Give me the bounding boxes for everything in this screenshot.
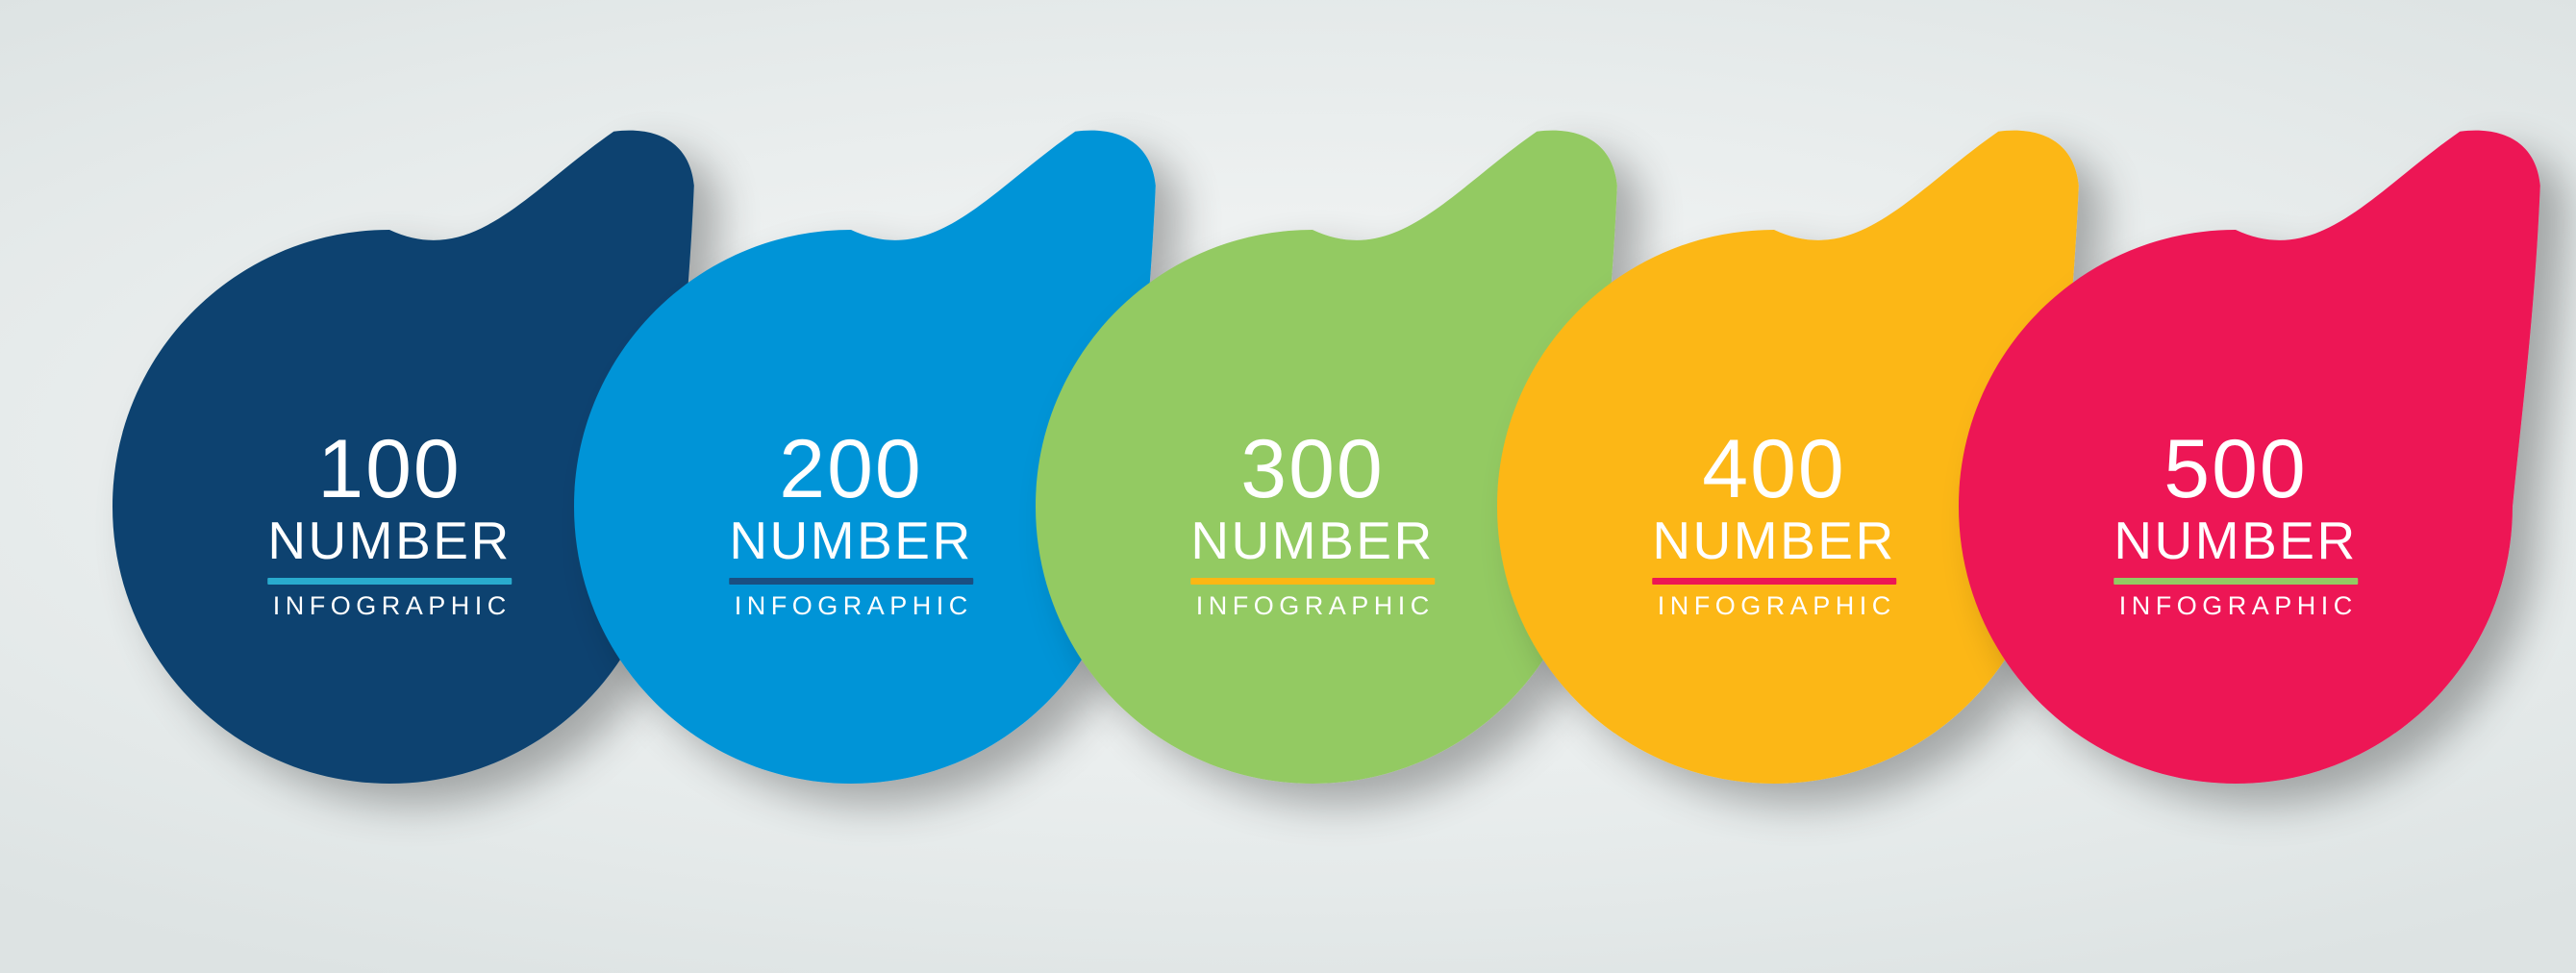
badge-number: 500 xyxy=(2113,429,2358,510)
badge-subtitle: INFOGRAPHIC xyxy=(2113,593,2358,619)
badge-group: 100NUMBERINFOGRAPHIC200NUMBERINFOGRAPHIC… xyxy=(0,0,2576,973)
badge-accent-rule xyxy=(2113,578,2358,585)
badge-label-block: 500NUMBERINFOGRAPHIC xyxy=(2113,429,2358,619)
badge-500[interactable]: 500NUMBERINFOGRAPHIC xyxy=(0,0,2576,973)
infographic-canvas: 100NUMBERINFOGRAPHIC200NUMBERINFOGRAPHIC… xyxy=(0,0,2576,973)
badge-word: NUMBER xyxy=(2113,513,2358,569)
